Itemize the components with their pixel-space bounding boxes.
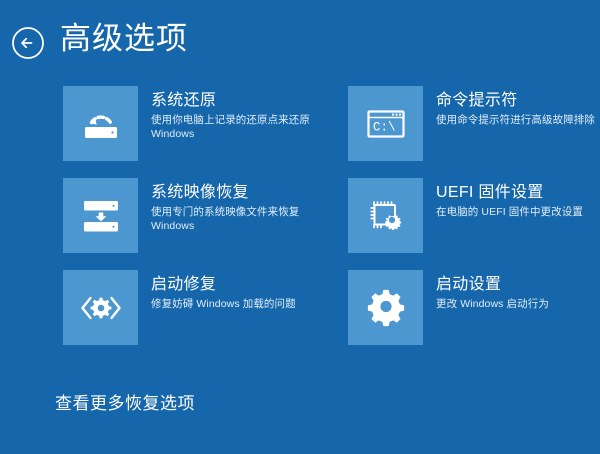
option-description: 在电脑的 UEFI 固件中更改设置 bbox=[436, 205, 598, 219]
option-tile bbox=[63, 178, 138, 253]
option-text: 启动修复 修复妨碍 Windows 加载的问题 bbox=[151, 274, 321, 311]
option-tile bbox=[63, 270, 138, 345]
option-title: 启动修复 bbox=[151, 274, 321, 295]
option-title: 命令提示符 bbox=[436, 90, 598, 111]
page-title: 高级选项 bbox=[60, 14, 188, 64]
advanced-options-screen: 高级选项 系统还原 使用你电脑上记录的还原点来还原 Windows bbox=[0, 0, 600, 454]
command-prompt-window-icon: C:\ bbox=[362, 100, 410, 148]
option-tile bbox=[348, 178, 423, 253]
option-text: 系统映像恢复 使用专门的系统映像文件来恢复 Windows bbox=[151, 182, 321, 233]
see-more-recovery-options-link[interactable]: 查看更多恢复选项 bbox=[55, 392, 195, 416]
back-button[interactable] bbox=[10, 25, 46, 61]
gear-brackets-icon bbox=[77, 284, 125, 332]
option-description: 使用命令提示符进行高级故障排除 bbox=[436, 113, 598, 127]
option-tile: C:\ bbox=[348, 86, 423, 161]
option-text: 系统还原 使用你电脑上记录的还原点来还原 Windows bbox=[151, 90, 321, 141]
option-tile bbox=[348, 270, 423, 345]
option-text: 命令提示符 使用命令提示符进行高级故障排除 bbox=[436, 90, 598, 127]
option-title: 启动设置 bbox=[436, 274, 598, 295]
option-title: 系统还原 bbox=[151, 90, 321, 111]
option-description: 使用专门的系统映像文件来恢复 Windows bbox=[151, 205, 319, 233]
option-description: 使用你电脑上记录的还原点来还原 Windows bbox=[151, 113, 319, 141]
option-command-prompt[interactable]: C:\ 命令提示符 使用命令提示符进行高级故障排除 bbox=[348, 86, 598, 164]
svg-text:C:\: C:\ bbox=[373, 120, 396, 134]
drive-image-download-icon bbox=[77, 192, 125, 240]
option-startup-settings[interactable]: 启动设置 更改 Windows 启动行为 bbox=[348, 270, 598, 348]
back-arrow-circle-icon bbox=[10, 25, 46, 61]
option-text: UEFI 固件设置 在电脑的 UEFI 固件中更改设置 bbox=[436, 182, 598, 219]
option-description: 更改 Windows 启动行为 bbox=[436, 297, 598, 311]
option-description: 修复妨碍 Windows 加载的问题 bbox=[151, 297, 319, 311]
option-tile bbox=[63, 86, 138, 161]
option-uefi-firmware-settings[interactable]: UEFI 固件设置 在电脑的 UEFI 固件中更改设置 bbox=[348, 178, 598, 256]
option-startup-repair[interactable]: 启动修复 修复妨碍 Windows 加载的问题 bbox=[63, 270, 321, 348]
option-title: UEFI 固件设置 bbox=[436, 182, 598, 203]
page-header: 高级选项 bbox=[0, 0, 600, 78]
option-text: 启动设置 更改 Windows 启动行为 bbox=[436, 274, 598, 311]
option-system-restore[interactable]: 系统还原 使用你电脑上记录的还原点来还原 Windows bbox=[63, 86, 321, 164]
drive-restore-icon bbox=[77, 100, 125, 148]
chip-gear-icon bbox=[362, 192, 410, 240]
option-title: 系统映像恢复 bbox=[151, 182, 321, 203]
option-system-image-recovery[interactable]: 系统映像恢复 使用专门的系统映像文件来恢复 Windows bbox=[63, 178, 321, 256]
gear-icon bbox=[362, 284, 410, 332]
